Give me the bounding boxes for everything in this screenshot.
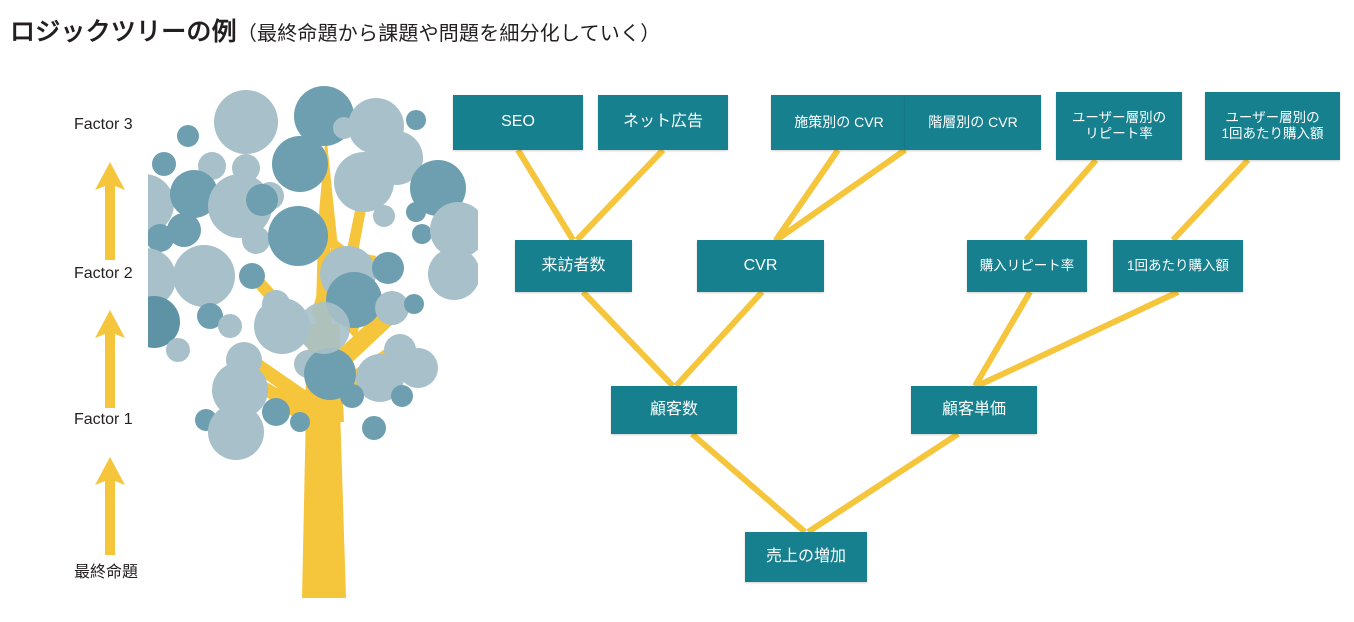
node-cvr-by-tier[interactable]: 階層別の CVR: [905, 95, 1041, 150]
node-repeat-rate[interactable]: 購入リピート率: [967, 240, 1087, 292]
node-spend-per-buy[interactable]: 1回あたり購入額: [1113, 240, 1243, 292]
node-visitors[interactable]: 来訪者数: [515, 240, 632, 292]
connector-unit-price-sales: [808, 434, 958, 532]
connector-net-ad-visitors: [577, 150, 663, 240]
node-seo-label: SEO: [501, 113, 535, 132]
node-sales-growth[interactable]: 売上の増加: [745, 532, 867, 582]
node-seo[interactable]: SEO: [453, 95, 583, 150]
connector-seo-visitors: [518, 150, 573, 240]
node-cvr-label: CVR: [744, 257, 778, 276]
node-unit-price[interactable]: 顧客単価: [911, 386, 1037, 434]
node-visitors-label: 来訪者数: [541, 257, 605, 276]
node-sales-growth-label: 売上の増加: [766, 548, 846, 567]
node-cvr[interactable]: CVR: [697, 240, 824, 292]
node-repeat-by-user-label: ユーザー層別の リピート率: [1072, 110, 1166, 142]
node-customers[interactable]: 顧客数: [611, 386, 737, 434]
node-unit-price-label: 顧客単価: [942, 401, 1006, 420]
node-cvr-by-tier-label: 階層別の CVR: [928, 114, 1017, 131]
node-net-ad-label: ネット広告: [623, 113, 703, 132]
node-cvr-by-measure-label: 施策別の CVR: [794, 114, 883, 131]
connector-cvr-measure-cvr: [776, 150, 838, 240]
connector-spend-user-spend: [1173, 160, 1248, 240]
node-spend-per-buy-label: 1回あたり購入額: [1127, 258, 1229, 274]
connector-cvr-tier-cvr: [775, 150, 905, 241]
logic-tree-slide: ロジックツリーの例 （最終命題から課題や問題を細分化していく）: [0, 0, 1354, 622]
node-net-ad[interactable]: ネット広告: [598, 95, 728, 150]
connector-repeat-user-repeat-rate: [1026, 160, 1096, 240]
node-repeat-rate-label: 購入リピート率: [980, 258, 1075, 274]
connector-spend-unit-price: [977, 292, 1178, 386]
connector-visitors-customers: [583, 292, 673, 386]
node-spend-by-user[interactable]: ユーザー層別の 1回あたり購入額: [1205, 92, 1340, 160]
node-cvr-by-measure[interactable]: 施策別の CVR: [771, 95, 907, 150]
node-spend-by-user-label: ユーザー層別の 1回あたり購入額: [1221, 110, 1323, 142]
connector-customers-sales: [692, 434, 805, 532]
node-repeat-by-user[interactable]: ユーザー層別の リピート率: [1056, 92, 1182, 160]
node-customers-label: 顧客数: [650, 401, 698, 420]
connector-cvr-customers: [676, 292, 762, 386]
